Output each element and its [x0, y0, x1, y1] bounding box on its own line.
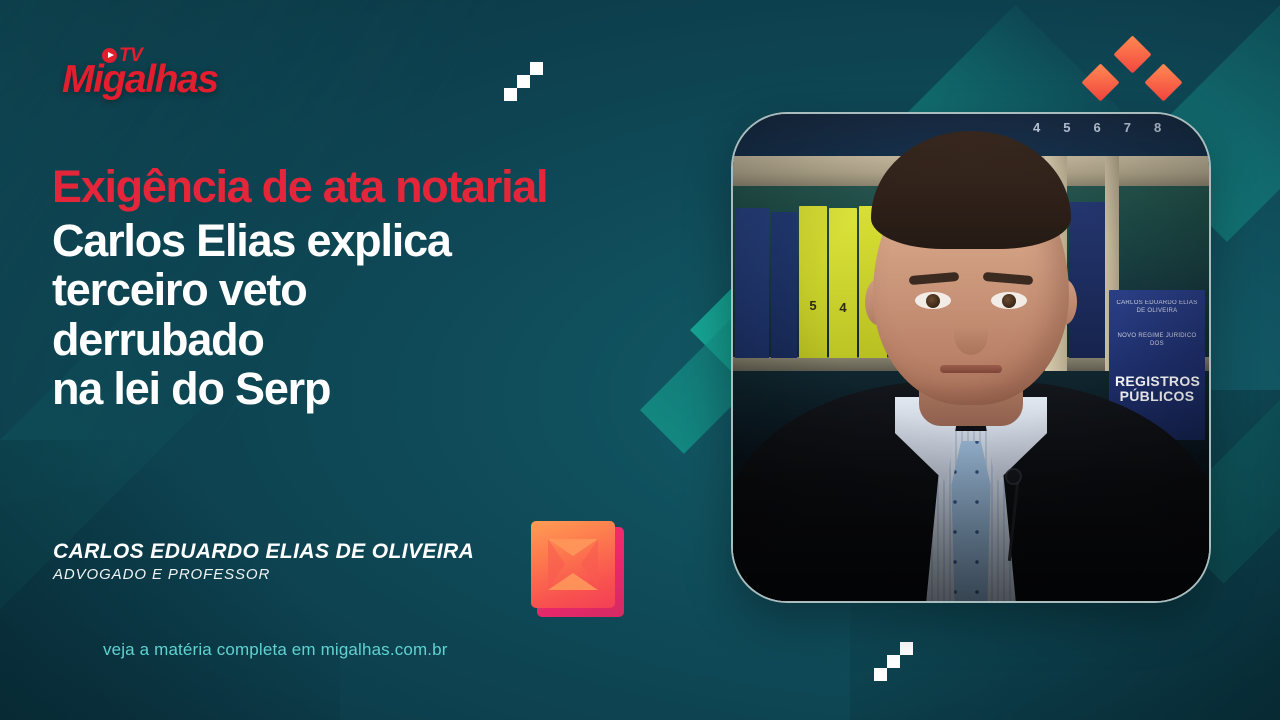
headline-main: Carlos Elias explica terceiro veto derru…: [52, 216, 712, 414]
mark-face-layer: [531, 521, 615, 608]
video-scene: 4 5 6 7 8 5 4 5 6 7 CIVIL: [733, 114, 1209, 601]
mark-triangle-left: [548, 539, 565, 589]
mark-triangle-right: [581, 539, 598, 589]
eye-right: [991, 292, 1027, 309]
lapel-mic-icon: [1007, 470, 1020, 483]
hair: [871, 131, 1071, 249]
three-diamonds-icon: [1087, 41, 1183, 97]
speaker-portrait: [733, 114, 1209, 601]
migalhas-square-mark-icon: [531, 521, 624, 617]
tv-migalhas-logo[interactable]: TV Migalhas: [62, 46, 242, 110]
speaker-credit: CARLOS EDUARDO ELIAS DE OLIVEIRA ADVOGAD…: [53, 540, 474, 585]
headline-line: terceiro veto: [52, 265, 712, 315]
logo-wordmark: Migalhas: [62, 60, 218, 99]
headline-line: derrubado: [52, 315, 712, 365]
footer-cta[interactable]: veja a matéria completa em migalhas.com.…: [103, 640, 448, 660]
headline-kicker: Exigência de ata notarial: [52, 164, 712, 210]
headline-line: Carlos Elias explica: [52, 216, 712, 266]
headline-block: Exigência de ata notarial Carlos Elias e…: [52, 164, 712, 414]
speaker-role: ADVOGADO E PROFESSOR: [53, 566, 474, 585]
headline-line: na lei do Serp: [52, 364, 712, 414]
video-thumbnail-card[interactable]: 4 5 6 7 8 5 4 5 6 7 CIVIL: [731, 112, 1211, 603]
speaker-name: CARLOS EDUARDO ELIAS DE OLIVEIRA: [53, 540, 474, 563]
nose: [954, 315, 988, 355]
thumbnail-canvas: TV Migalhas Exigência de ata notarial Ca…: [0, 0, 1280, 720]
eye-left: [915, 292, 951, 309]
mouth: [940, 365, 1002, 373]
